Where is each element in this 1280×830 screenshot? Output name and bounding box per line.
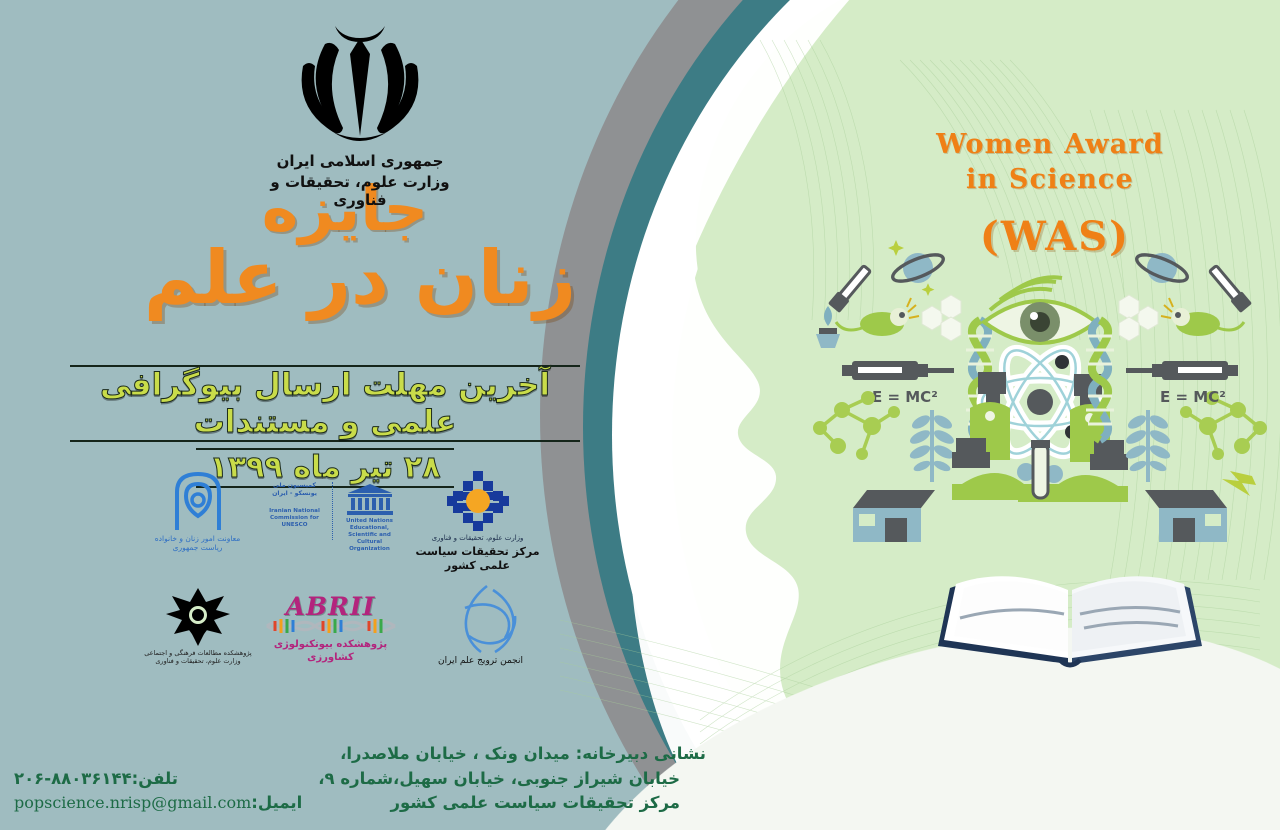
phone-value: ۸۸۰۳۶۱۴۴-۲۰۶: [14, 769, 132, 788]
emblem-caption-1: جمهوری اسلامی ایران: [255, 152, 465, 170]
unesco-persian-caption-2: یونسکو - ایران: [264, 490, 326, 498]
unesco-divider: [332, 482, 333, 540]
persian-title-line2: زنان در علم: [100, 240, 620, 318]
svg-text:E = MC²: E = MC²: [1160, 388, 1226, 406]
address-line-3: مرکز تحقیقات سیاست علمی کشور: [390, 791, 680, 816]
english-abbreviation: (WAS): [905, 213, 1205, 260]
logo-women-family-affairs: معاونت امور زنان و خانواده ریاست جمهوری: [140, 470, 255, 553]
svg-text:E = MC²: E = MC²: [872, 388, 938, 406]
logo-iscs: پژوهشکده مطالعات فرهنگی و اجتماعی وزارت …: [138, 588, 258, 665]
address-line-2: خیابان شیراز جنوبی، خیابان سهیل،شماره ۹،: [318, 767, 680, 792]
iscs-caption-1: پژوهشکده مطالعات فرهنگی و اجتماعی: [138, 649, 258, 657]
email-value[interactable]: popscience.nrisp@gmail.com: [14, 793, 251, 812]
blue-pixel-sun-icon: [446, 470, 510, 532]
iscs-caption-2: وزارت علوم، تحقیقات و فناوری: [138, 657, 258, 665]
logo-women-caption-1: معاونت امور زنان و خانواده: [140, 534, 255, 543]
unesco-temple-icon: [344, 482, 396, 516]
logo-science-promotion-association: انجمن ترویج علم ایران: [408, 582, 553, 667]
poster-root: E = MC² E = M: [0, 0, 1280, 830]
english-title-line2: in Science: [880, 163, 1220, 198]
atom-swirl-icon: [435, 582, 527, 656]
nrisp-caption-1: وزارت علوم، تحقیقات و فناوری: [405, 534, 550, 543]
address-label: نشانی دبیرخانه:: [576, 744, 706, 763]
unesco-persian-caption-1: کمیسیون ملی: [264, 482, 326, 490]
logo-nrisp: وزارت علوم، تحقیقات و فناوری مرکز تحقیقا…: [405, 470, 550, 572]
unesco-english-caption: United Nations Educational, Scientific a…: [339, 518, 401, 553]
iran-national-emblem-icon: [285, 20, 435, 148]
unesco-english-caption-right: Iranian National Commission for UNESCO: [264, 508, 326, 529]
address-line-1: میدان ونک ، خیابان ملاصدرا،: [340, 744, 570, 763]
iran-ministry-emblem: جمهوری اسلامی ایران وزارت علوم، تحقیقات …: [255, 20, 465, 209]
english-title: Women Award in Science: [880, 128, 1220, 197]
english-title-line1: Women Award: [880, 128, 1220, 163]
open-book-icon: [920, 560, 1220, 690]
science-icon-cluster: E = MC² E = M: [800, 240, 1280, 600]
mother-child-arch-icon: [169, 470, 227, 532]
partner-logos: معاونت امور زنان و خانواده ریاست جمهوری …: [130, 470, 550, 710]
black-star-burst-icon: [166, 588, 230, 646]
email-group[interactable]: ایمیل:popscience.nrisp@gmail.com: [14, 791, 302, 816]
phone-group: تلفن:۸۸۰۳۶۱۴۴-۲۰۶: [14, 767, 178, 792]
assoc-caption: انجمن ترویج علم ایران: [408, 656, 553, 667]
footer-contact-block: نشانی دبیرخانه: میدان ونک ، خیابان ملاصد…: [0, 742, 720, 816]
phone-label: تلفن:: [132, 769, 178, 788]
logo-abrii: ABRII پژوهشکده بیوتکنولوژی کشاورزی: [258, 594, 403, 664]
logo-women-caption-2: ریاست جمهوری: [140, 543, 255, 552]
nrisp-caption-2: مرکز تحقیقات سیاست علمی کشور: [405, 545, 550, 573]
logo-unesco: کمیسیون ملی یونسکو - ایران Iranian Natio…: [262, 482, 402, 553]
emblem-caption-2: وزارت علوم، تحقیقات و فناوری: [255, 173, 465, 209]
deadline-label: آخرین مهلت ارسال بیوگرافی علمی و مستندات: [70, 365, 580, 442]
email-label: ایمیل:: [251, 793, 302, 812]
abrii-caption: پژوهشکده بیوتکنولوژی کشاورزی: [258, 639, 403, 664]
